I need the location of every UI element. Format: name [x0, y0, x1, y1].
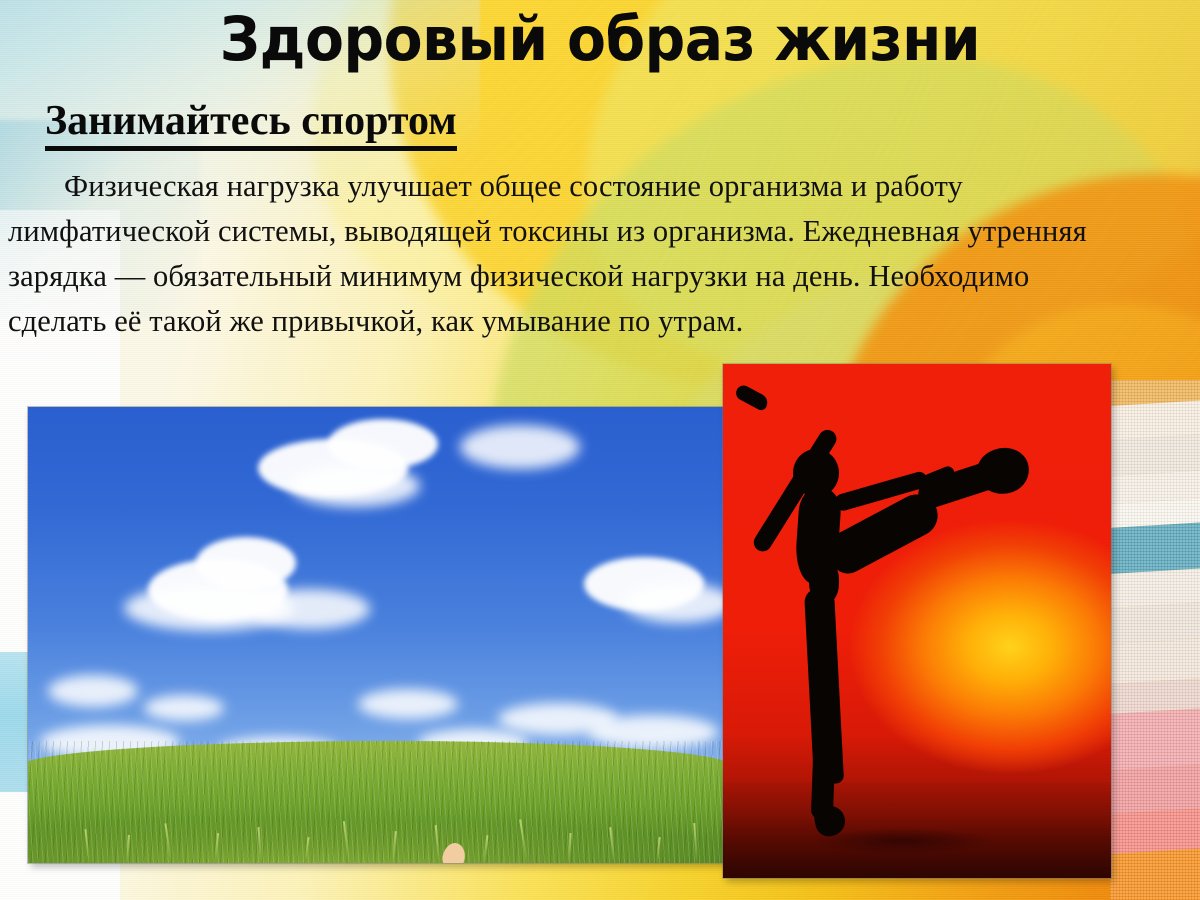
dancer-head	[793, 449, 839, 497]
cloud-1	[328, 419, 438, 469]
cloud-12	[358, 689, 458, 719]
photo-kids-grass	[28, 741, 725, 863]
cloud-3	[460, 425, 580, 469]
right-strip-band-8	[1110, 638, 1200, 684]
photo-dancer-silhouette	[723, 364, 1111, 878]
body-paragraph: Физическая нагрузка улучшает общее состо…	[8, 164, 1098, 344]
right-strip-band-12	[1110, 808, 1200, 854]
right-strip-band-7	[1110, 602, 1200, 644]
right-strip-band-10	[1110, 708, 1200, 770]
photo-kids-stretching	[28, 407, 725, 863]
cloud-7	[250, 589, 370, 629]
right-edge-color-strip	[1110, 380, 1200, 900]
cloud-2	[290, 465, 420, 507]
page-title: Здоровый образ жизни	[42, 8, 1158, 72]
right-strip-band-1	[1110, 400, 1200, 440]
slide-canvas: Здоровый образ жизни Занимайтесь спортом…	[0, 0, 1200, 900]
cloud-5	[196, 537, 296, 589]
right-strip-band-13	[1110, 848, 1200, 900]
right-strip-band-6	[1110, 568, 1200, 608]
cloud-9	[624, 583, 725, 623]
cloud-10	[48, 675, 138, 707]
section-subtitle: Занимайтесь спортом	[45, 98, 457, 151]
right-strip-band-2	[1110, 434, 1200, 476]
right-strip-band-11	[1110, 764, 1200, 814]
right-strip-band-5	[1110, 522, 1200, 574]
dancer-standing-calf	[811, 694, 837, 821]
dancer-hips	[809, 560, 839, 604]
cloud-11	[144, 695, 224, 721]
